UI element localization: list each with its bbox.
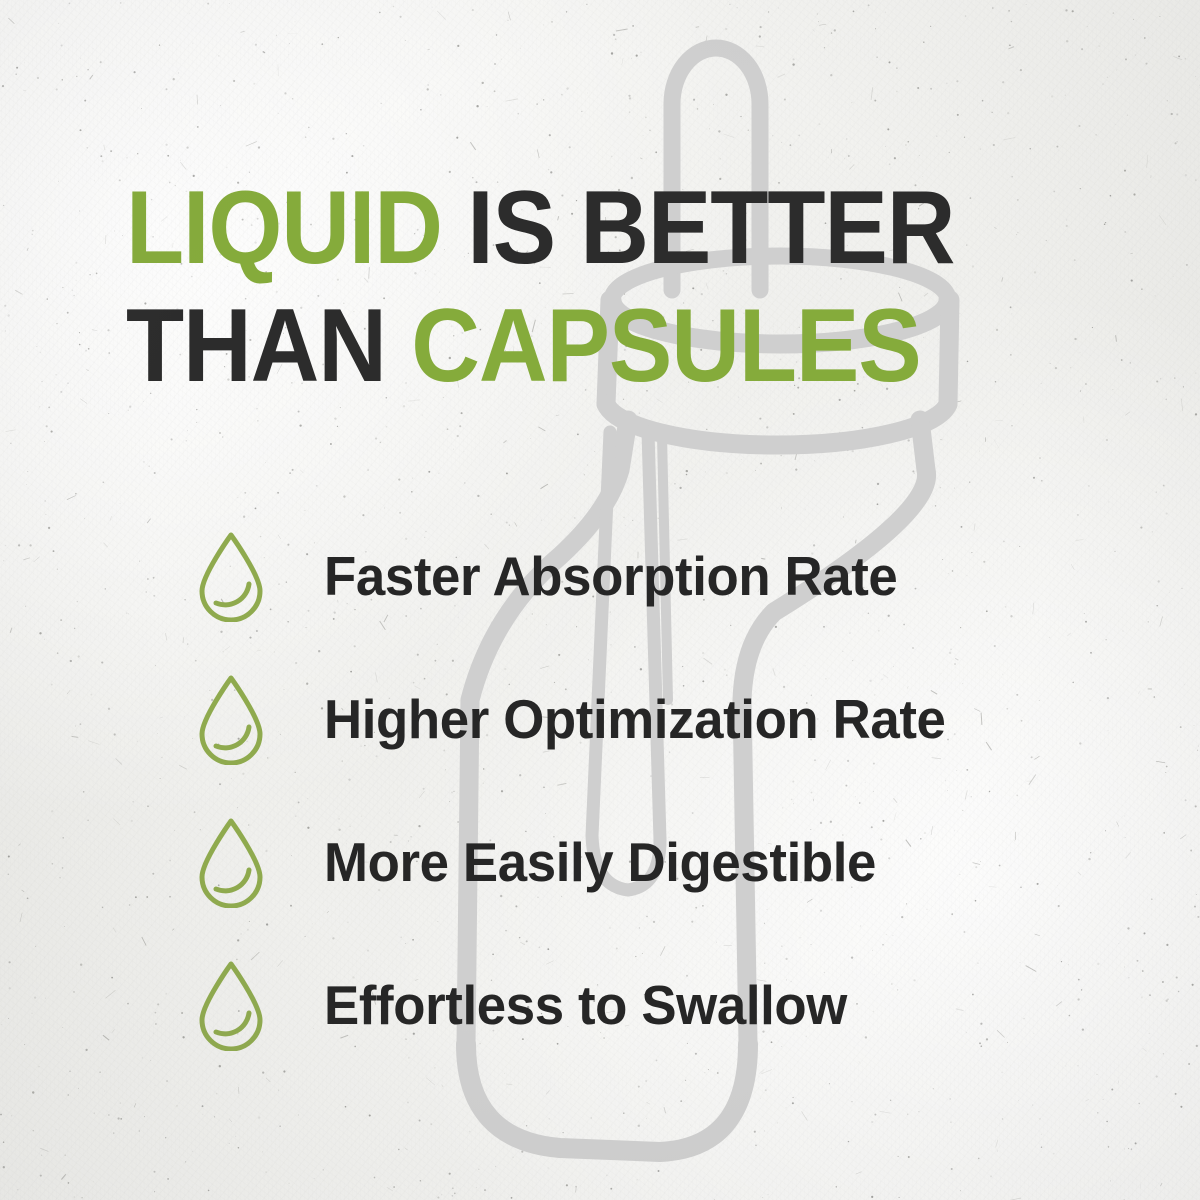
paper-vignette xyxy=(0,0,1200,1200)
promo-graphic: LIQUID IS BETTER THAN CAPSULES Faster Ab… xyxy=(0,0,1200,1200)
